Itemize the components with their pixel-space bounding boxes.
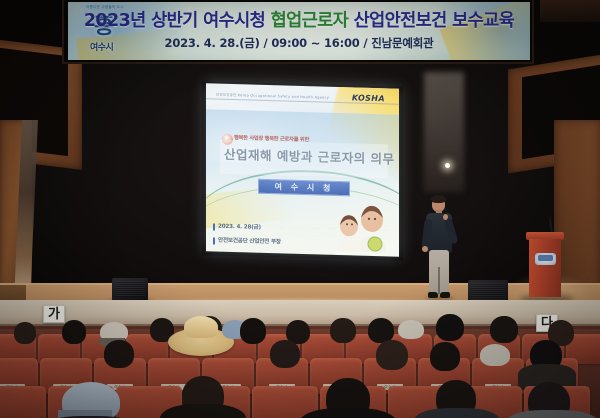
presenter-shoe-right [440,292,450,298]
monitor-right-grill [471,283,505,300]
presenter-leg-separation [438,267,440,294]
slide-presenter-org: 안전보건공단 산업안전 부장 [218,236,281,246]
audience-head [104,340,134,368]
banner-title: 2023년 상반기 여수시청 협업근로자 산업안전보건 보수교육 [68,7,530,32]
podium [528,232,562,302]
audience-head [270,340,300,368]
kosha-logo: KOSHA [352,93,385,103]
auditorium-photo: 아름다운 사람들의 도시 흥 여수시 2023년 상반기 여수시청 협업근로자 … [0,0,600,418]
slide-org-tick [213,238,215,245]
audience-head [330,318,356,343]
audience-head [490,316,518,343]
audience-cap [398,320,424,339]
presenter-hand-right [443,214,448,220]
slide-date-tick [213,224,215,231]
wall-light-glow [424,72,464,192]
projection-screen: 안전보건공단 Korea Occupational Safety and Hea… [206,83,399,256]
podium-emblem [535,253,556,265]
wall-light-point [445,163,450,168]
presenter-hair [431,195,446,203]
podium-mic-icon [548,215,552,219]
wood-header-right [540,0,600,22]
audience-head [376,340,408,370]
banner-subtitle: 2023. 4. 28.(금) / 09:00 ~ 16:00 / 진남문예회관 [68,35,530,51]
monitor-left-grill [115,281,145,297]
slide-date: 2023. 4. 28(금) [218,222,261,231]
audience-head [430,342,460,371]
event-banner: 아름다운 사람들의 도시 흥 여수시 2023년 상반기 여수시청 협업근로자 … [68,2,530,60]
presenter-shoe-left [428,292,438,298]
audience-head [62,320,86,344]
audience-straw-hat-crown [184,316,218,338]
auditorium-seating: 가 다 여수시 [0,300,600,418]
audience-head [436,314,464,341]
podium-body [529,239,561,297]
family-illustration [325,199,395,253]
presenter [418,195,460,303]
podium-emblem-inner [538,255,553,261]
audience-head [240,318,266,344]
section-sign-ga: 가 [43,305,65,323]
banner-title-part2: 산업안전보건 보수교육 [348,11,514,31]
presenter-hand-left [422,246,428,252]
audience-cap [480,344,510,366]
seat: 여수시 [0,386,46,418]
banner-title-highlight: 협업근로자 [271,11,349,31]
banner-title-part1: 2023년 상반기 여수시청 [84,11,271,31]
stage-monitor-left [112,278,148,301]
audience-head [14,322,36,344]
